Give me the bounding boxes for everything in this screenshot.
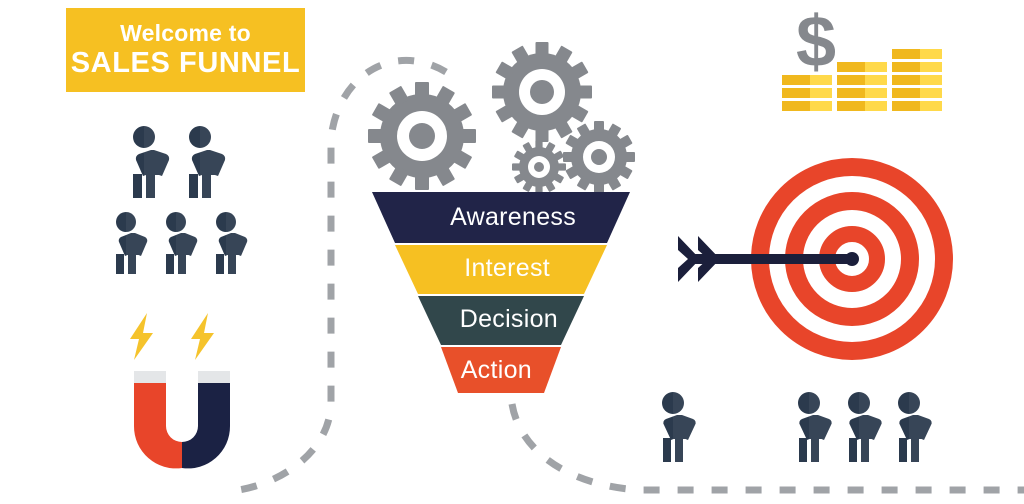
person-single [650,392,696,462]
people-group-right [786,392,932,462]
coin-stack-2 [837,62,887,111]
funnel-stage-interest [395,245,607,294]
coin [892,49,942,59]
coin [892,101,942,111]
dollar-sign-icon: $ [796,2,836,82]
coin [837,75,887,85]
coin-stack-1 [782,75,832,111]
coin-stack-3 [892,49,942,111]
money-coin-stacks: $ [776,8,946,112]
coin [892,62,942,72]
coin [892,88,942,98]
infographic-canvas: Welcome to SALES FUNNEL [0,0,1024,504]
funnel-stage-action [441,347,561,393]
coin [782,75,832,85]
funnel-stage-decision [418,296,584,345]
person-icon [848,392,882,462]
target-bullseye [676,158,962,362]
funnel-stage-awareness [372,192,630,243]
arrow-fletching [678,236,720,282]
coin [837,62,887,72]
person-icon [898,392,932,462]
coin [782,88,832,98]
person-icon [662,392,696,462]
coin [782,101,832,111]
coin [892,75,942,85]
coin [837,88,887,98]
coin [837,101,887,111]
person-icon [798,392,832,462]
